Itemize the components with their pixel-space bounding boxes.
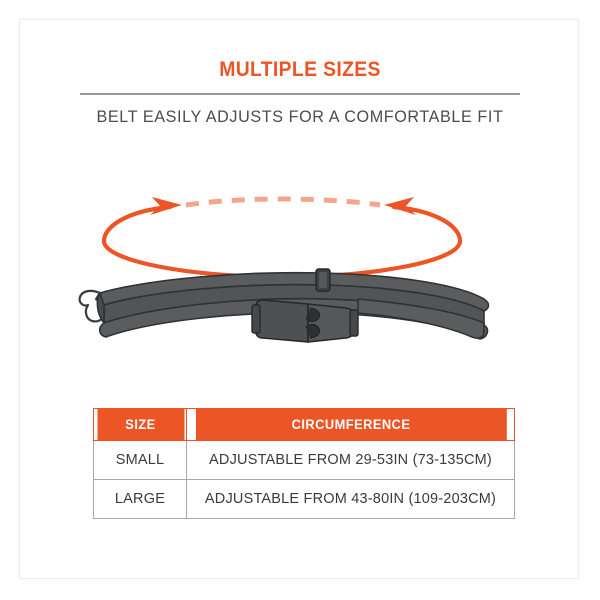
tactical-belt-illustration (80, 269, 489, 342)
size-chart-table: SIZE CIRCUMFERENCE SMALL ADJUSTABLE FROM… (93, 408, 515, 519)
cell-circumference-large: ADJUSTABLE FROM 43-80IN (109-203CM) (187, 480, 515, 519)
belt-tail-end (80, 291, 105, 323)
title-divider (80, 93, 520, 95)
adjustable-circumference-ring (104, 197, 460, 277)
cell-size-large: LARGE (94, 480, 187, 519)
table-row: SMALL ADJUSTABLE FROM 29-53IN (73-135CM) (94, 441, 515, 480)
cell-size-small: SMALL (94, 441, 187, 480)
strap-keeper-loop (316, 269, 330, 291)
belt-illustration-area (60, 165, 540, 380)
cell-circumference-small: ADJUSTABLE FROM 29-53IN (73-135CM) (187, 441, 515, 480)
product-infographic: MULTIPLE SIZES BELT EASILY ADJUSTS FOR A… (0, 0, 600, 600)
arrow-right-icon (384, 197, 416, 215)
column-header-size: SIZE (96, 409, 184, 441)
page-title: MULTIPLE SIZES (24, 58, 576, 82)
table-header-row: SIZE CIRCUMFERENCE (94, 409, 515, 441)
page-subtitle: BELT EASILY ADJUSTS FOR A COMFORTABLE FI… (6, 108, 594, 127)
ring-dashed-arc (186, 199, 380, 205)
table-row: LARGE ADJUSTABLE FROM 43-80IN (109-203CM… (94, 480, 515, 519)
arrow-left-icon (150, 197, 182, 215)
column-header-circumference: CIRCUMFERENCE (195, 409, 507, 441)
ring-solid-arc (104, 207, 460, 277)
